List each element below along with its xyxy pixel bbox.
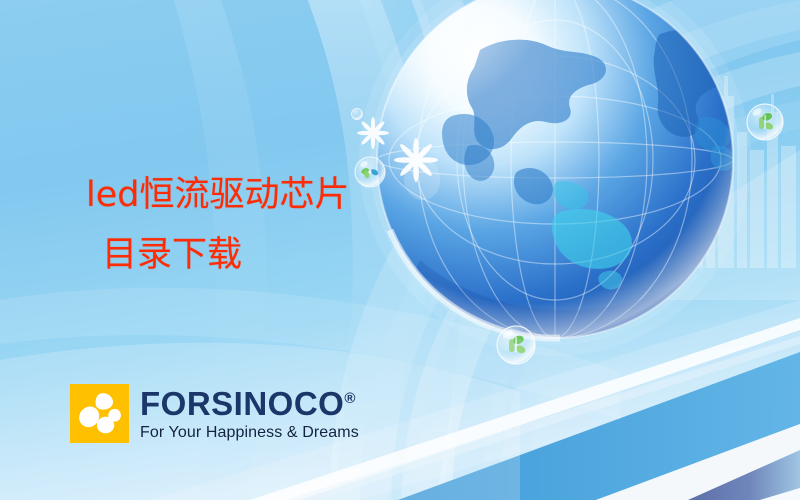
starburst-flower: [357, 117, 389, 149]
company-logo-lockup[interactable]: FORSINOCO® For Your Happiness & Dreams: [70, 384, 359, 443]
forsinoco-pinwheel-mark: [70, 384, 129, 443]
bubble-small: [352, 109, 363, 120]
headline-block: led恒流驱动芯片 目录下载: [86, 165, 506, 285]
logo-text-block: FORSINOCO® For Your Happiness & Dreams: [140, 384, 359, 443]
marketing-banner: led恒流驱动芯片 目录下载 FORSINOCO®: [0, 0, 800, 500]
skyline-wash: [600, 150, 800, 300]
pinwheel-petals-icon: [70, 384, 129, 443]
headline-line-1: led恒流驱动芯片: [86, 165, 506, 225]
logo-wordmark-text: FORSINOCO: [140, 385, 344, 422]
logo-tagline: For Your Happiness & Dreams: [140, 423, 359, 443]
city-skyline-silhouette: [626, 76, 796, 268]
bubble-windmill: [747, 104, 783, 140]
headline-line-2: 目录下载: [86, 225, 506, 285]
registered-trademark-icon: ®: [344, 390, 356, 407]
bubble-leaf: [497, 326, 535, 364]
logo-wordmark: FORSINOCO®: [140, 387, 359, 420]
